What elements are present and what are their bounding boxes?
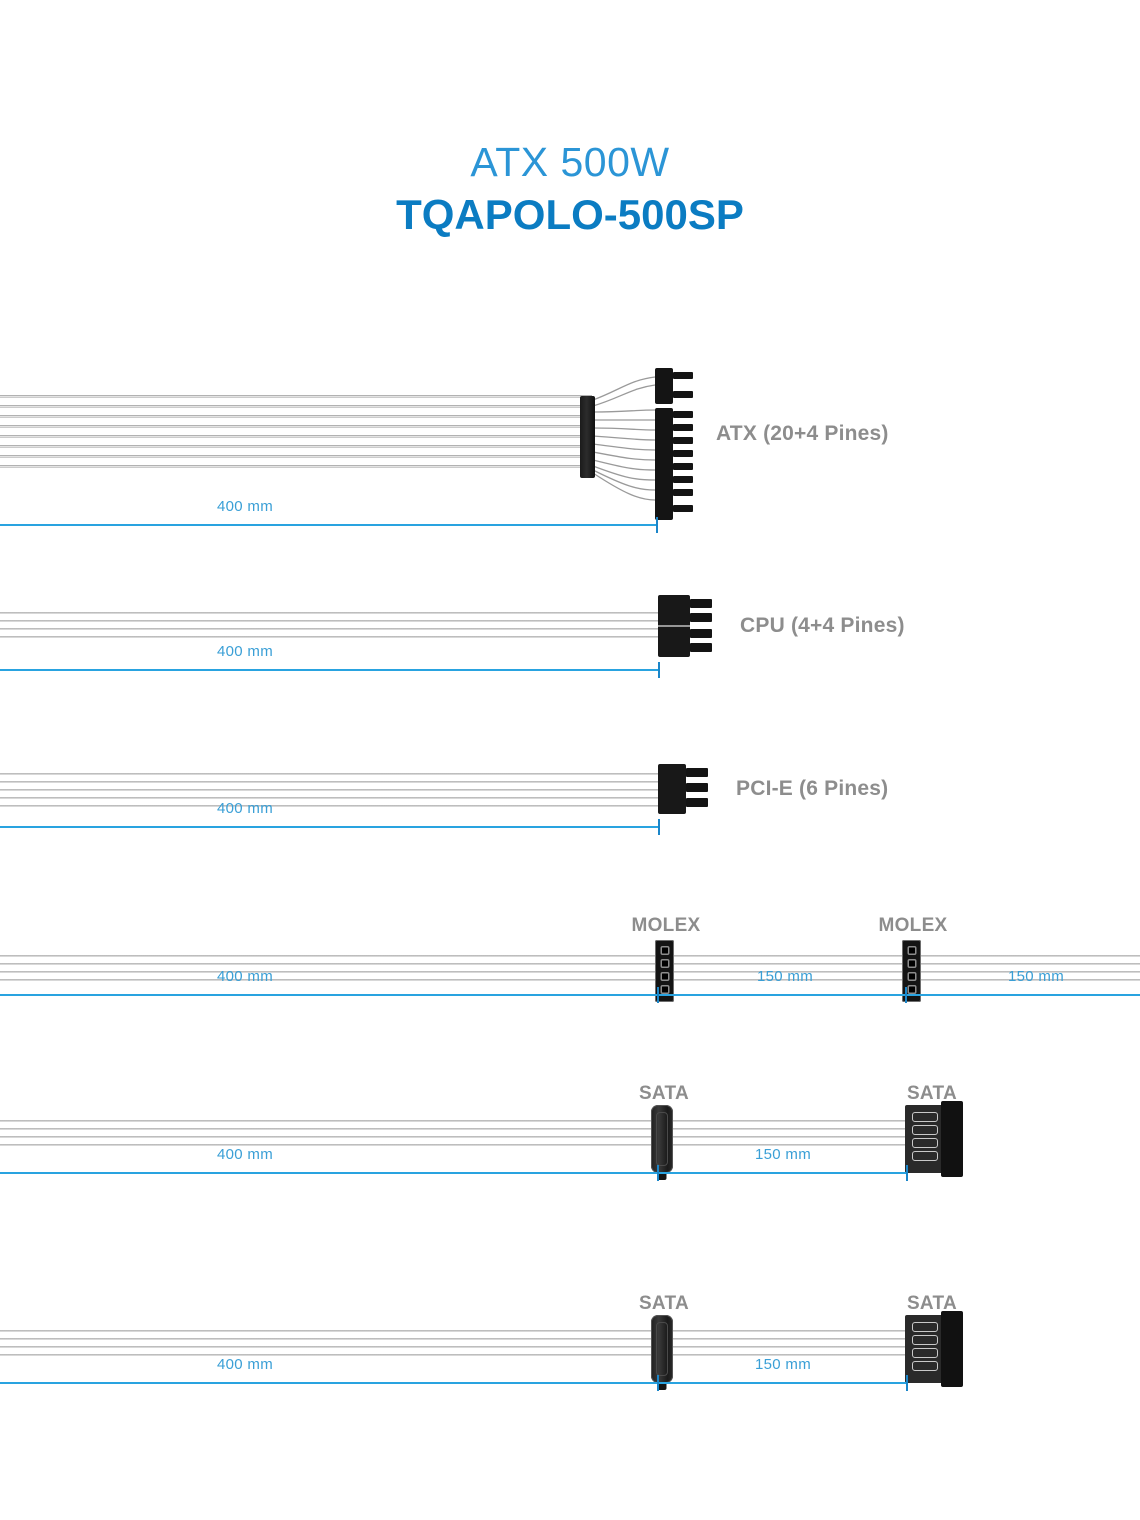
- molex-pin-hole: [907, 972, 916, 981]
- cable-row-sata-1: SATA SATA 400 mm 150 mm: [0, 1075, 1140, 1205]
- dimension-tick: [657, 987, 659, 1003]
- dimension-line: [0, 524, 658, 526]
- atx-cable-sleeve: [580, 396, 595, 478]
- dimension-label: 400 mm: [217, 643, 273, 660]
- molex-pin-hole: [660, 946, 669, 955]
- sata-contact-slot: [912, 1125, 938, 1135]
- dimension-tick: [657, 1375, 659, 1391]
- dimension-tick: [656, 517, 658, 533]
- sata-contact-slot: [912, 1138, 938, 1148]
- wire: [0, 797, 665, 799]
- cable-row-sata-2: SATA SATA 400 mm 150 mm: [0, 1285, 1140, 1415]
- dimension-line: [0, 826, 660, 828]
- dimension-sata-2: 400 mm 150 mm: [0, 1373, 930, 1391]
- dimension-molex-400mm: 400 mm 150 mm 150 mm: [0, 985, 1140, 1003]
- cpu-pin-tab: [690, 613, 712, 622]
- wire: [0, 620, 665, 622]
- dimension-atx-400mm: 400 mm: [0, 515, 660, 533]
- atx-pin: [673, 489, 693, 496]
- cable-row-cpu: CPU (4+4 Pines) 400 mm: [0, 590, 1140, 710]
- pcie-pin-tab: [686, 768, 708, 777]
- atx-pin: [673, 476, 693, 483]
- wire: [0, 971, 1140, 973]
- cpu-pin-tab: [690, 599, 712, 608]
- wire: [0, 979, 1140, 981]
- wire: [0, 636, 665, 638]
- wire: [0, 1338, 930, 1340]
- wire: [0, 1128, 930, 1130]
- cpu-pin-tab: [690, 629, 712, 638]
- molex-pin-hole: [660, 972, 669, 981]
- connector-label-molex-2: MOLEX: [878, 915, 947, 937]
- connector-label-pcie: PCI-E (6 Pines): [736, 777, 888, 801]
- cpu-connector-split: [658, 625, 690, 627]
- cable-row-pcie: PCI-E (6 Pines) 400 mm: [0, 755, 1140, 875]
- product-model-title: TQAPOLO-500SP: [0, 190, 1140, 240]
- atx-pin: [673, 450, 693, 457]
- dimension-label: 150 mm: [1008, 968, 1064, 985]
- connector-label-cpu: CPU (4+4 Pines): [740, 614, 905, 638]
- atx-20pin-head: [655, 408, 673, 520]
- dimension-sata-1: 400 mm 150 mm: [0, 1163, 930, 1181]
- wire-bundle-molex: [0, 955, 1140, 987]
- dimension-pcie-400mm: 400 mm: [0, 817, 665, 835]
- dimension-label: 150 mm: [757, 968, 813, 985]
- cable-row-molex: MOLEX MOLEX 400 mm 150 mm 150 mm: [0, 915, 1140, 1025]
- connector-label-sata-mid-2: SATA: [639, 1293, 689, 1315]
- wire: [0, 612, 665, 614]
- molex-pin-hole: [907, 959, 916, 968]
- dimension-tick: [905, 987, 907, 1003]
- wire: [0, 789, 665, 791]
- dimension-tick: [906, 1375, 908, 1391]
- dimension-label: 400 mm: [217, 800, 273, 817]
- dimension-tick: [658, 819, 660, 835]
- dimension-line: [0, 669, 660, 671]
- dimension-tick: [657, 1165, 659, 1181]
- pcie-pin-tab: [686, 783, 708, 792]
- dimension-cpu-400mm: 400 mm: [0, 660, 665, 678]
- dimension-line: [0, 994, 1140, 996]
- wire: [0, 773, 665, 775]
- sata-contact-slot: [912, 1361, 938, 1371]
- atx-pin: [673, 411, 693, 418]
- sata-mid-inner: [656, 1112, 668, 1166]
- connector-label-molex-1: MOLEX: [631, 915, 700, 937]
- sata-contact-slot: [912, 1335, 938, 1345]
- dimension-line: [0, 1172, 908, 1174]
- sata-end-cap-1: [941, 1101, 963, 1177]
- wire: [0, 781, 665, 783]
- cpu-pin-tab: [690, 643, 712, 652]
- page-title: ATX 500W TQAPOLO-500SP: [0, 140, 1140, 239]
- dimension-label: 400 mm: [217, 968, 273, 985]
- wire: [0, 1330, 930, 1332]
- dimension-label: 400 mm: [217, 1356, 273, 1373]
- wire: [0, 1346, 930, 1348]
- pcie-connector-body: [658, 764, 686, 814]
- dimension-label: 400 mm: [217, 1146, 273, 1163]
- connector-label-atx: ATX (20+4 Pines): [716, 422, 889, 446]
- atx-pin: [673, 424, 693, 431]
- wire-bundle-pcie: [0, 773, 665, 815]
- molex-pin-hole: [907, 946, 916, 955]
- atx-pin: [673, 463, 693, 470]
- atx-pin: [673, 372, 693, 379]
- wire: [0, 1136, 930, 1138]
- cable-layout-diagram: ATX 500W TQAPOLO-500SP: [0, 0, 1140, 1520]
- wire: [0, 1120, 930, 1122]
- sata-end-cap-2: [941, 1311, 963, 1387]
- sata-contact-slot: [912, 1112, 938, 1122]
- wire: [0, 955, 1140, 957]
- dimension-label: 400 mm: [217, 498, 273, 515]
- wire: [0, 963, 1140, 965]
- sata-contact-slot: [912, 1151, 938, 1161]
- connector-label-sata-mid-1: SATA: [639, 1083, 689, 1105]
- cable-row-atx: ATX (20+4 Pines) 400 mm: [0, 360, 1140, 550]
- dimension-line: [0, 1382, 908, 1384]
- dimension-tick: [906, 1165, 908, 1181]
- molex-pin-hole: [660, 959, 669, 968]
- sata-contact-slot: [912, 1322, 938, 1332]
- sata-contact-slot: [912, 1348, 938, 1358]
- pcie-pin-tab: [686, 798, 708, 807]
- sata-mid-inner: [656, 1322, 668, 1376]
- product-wattage-title: ATX 500W: [0, 140, 1140, 186]
- dimension-label: 150 mm: [755, 1146, 811, 1163]
- wire: [0, 628, 665, 630]
- atx-pin: [673, 391, 693, 398]
- atx-pin: [673, 505, 693, 512]
- atx-pin: [673, 437, 693, 444]
- wire-bundle-cpu: [0, 612, 665, 652]
- dimension-tick: [658, 662, 660, 678]
- dimension-label: 150 mm: [755, 1356, 811, 1373]
- atx-4pin-head: [655, 368, 673, 404]
- wire: [0, 805, 665, 807]
